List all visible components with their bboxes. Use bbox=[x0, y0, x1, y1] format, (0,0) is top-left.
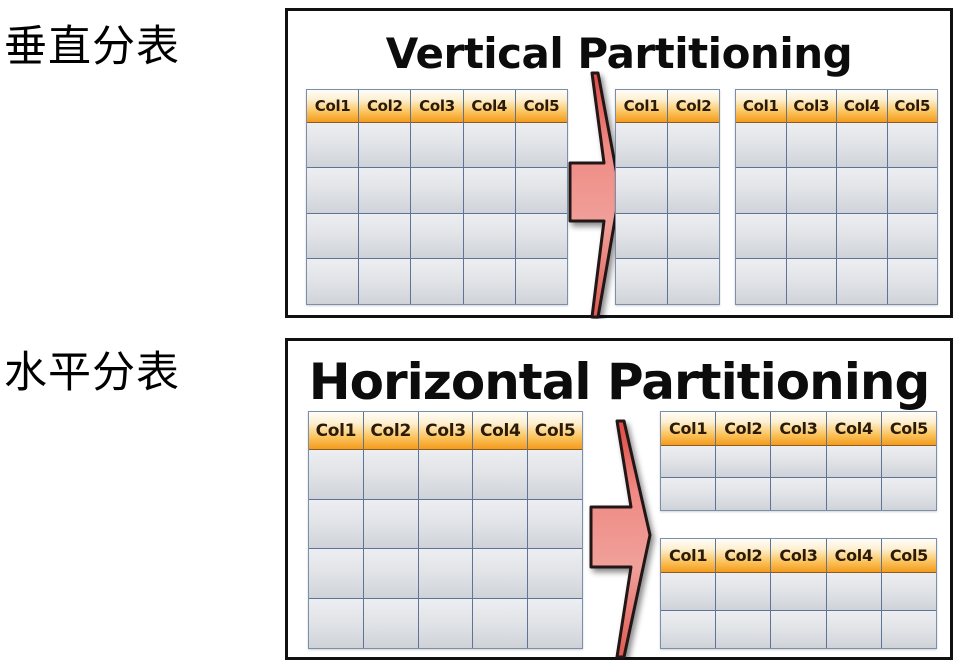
table-cell bbox=[668, 168, 719, 213]
column-header-col3: Col3 bbox=[787, 90, 838, 123]
table-row bbox=[307, 259, 567, 304]
table-row bbox=[616, 168, 719, 213]
vertical-partition-2-table: Col1Col3Col4Col5 bbox=[735, 89, 938, 305]
table-header-row: Col1Col2Col3Col4Col5 bbox=[307, 90, 567, 123]
horizontal-source-table: Col1Col2Col3Col4Col5 bbox=[308, 411, 583, 649]
table-cell bbox=[364, 450, 419, 500]
table-cell bbox=[827, 611, 882, 649]
column-header-col1: Col1 bbox=[309, 412, 364, 450]
table-row bbox=[661, 446, 936, 478]
table-cell bbox=[882, 611, 936, 649]
table-header-row: Col1Col2 bbox=[616, 90, 719, 123]
table-cell bbox=[364, 599, 419, 649]
table-row bbox=[736, 123, 937, 168]
table-cell bbox=[516, 168, 567, 213]
table-cell bbox=[473, 500, 528, 550]
table-cell bbox=[837, 259, 888, 304]
table-cell bbox=[787, 214, 838, 259]
table-cell bbox=[736, 168, 787, 213]
column-header-col4: Col4 bbox=[827, 539, 882, 573]
table-cell bbox=[464, 214, 516, 259]
column-header-col4: Col4 bbox=[837, 90, 888, 123]
table-row bbox=[661, 573, 936, 611]
table-cell bbox=[419, 599, 474, 649]
table-cell bbox=[716, 478, 771, 510]
table-cell bbox=[359, 214, 411, 259]
table-row bbox=[616, 214, 719, 259]
column-header-col3: Col3 bbox=[419, 412, 474, 450]
table-header-row: Col1Col2Col3Col4Col5 bbox=[309, 412, 582, 450]
column-header-col4: Col4 bbox=[827, 412, 882, 446]
table-row bbox=[307, 123, 567, 168]
table-row bbox=[309, 500, 582, 550]
table-cell bbox=[528, 549, 582, 599]
table-cell bbox=[307, 123, 359, 168]
column-header-col3: Col3 bbox=[771, 539, 826, 573]
table-cell bbox=[736, 123, 787, 168]
table-row bbox=[616, 123, 719, 168]
table-cell bbox=[516, 214, 567, 259]
table-cell bbox=[419, 549, 474, 599]
table-header-row: Col1Col2Col3Col4Col5 bbox=[661, 412, 936, 446]
table-cell bbox=[837, 123, 888, 168]
column-header-col5: Col5 bbox=[882, 412, 936, 446]
caption-horizontal-partitioning: 水平分表 bbox=[4, 352, 180, 395]
table-cell bbox=[661, 478, 716, 510]
table-cell bbox=[419, 450, 474, 500]
table-cell bbox=[661, 446, 716, 478]
table-cell bbox=[309, 549, 364, 599]
column-header-col2: Col2 bbox=[716, 539, 771, 573]
table-cell bbox=[473, 549, 528, 599]
table-cell bbox=[528, 450, 582, 500]
table-cell bbox=[787, 123, 838, 168]
table-cell bbox=[716, 573, 771, 611]
table-cell bbox=[359, 259, 411, 304]
table-row bbox=[661, 611, 936, 649]
table-cell bbox=[616, 123, 668, 168]
table-cell bbox=[837, 214, 888, 259]
column-header-col2: Col2 bbox=[716, 412, 771, 446]
table-cell bbox=[528, 500, 582, 550]
table-cell bbox=[882, 573, 936, 611]
table-cell bbox=[309, 599, 364, 649]
table-cell bbox=[771, 611, 826, 649]
table-cell bbox=[307, 168, 359, 213]
column-header-col1: Col1 bbox=[616, 90, 668, 123]
column-header-col4: Col4 bbox=[464, 90, 516, 123]
table-row bbox=[616, 259, 719, 304]
table-cell bbox=[827, 446, 882, 478]
table-cell bbox=[411, 259, 463, 304]
table-header-row: Col1Col2Col3Col4Col5 bbox=[661, 539, 936, 573]
table-cell bbox=[882, 478, 936, 510]
table-cell bbox=[464, 168, 516, 213]
table-cell bbox=[464, 259, 516, 304]
table-cell bbox=[364, 500, 419, 550]
table-cell bbox=[736, 259, 787, 304]
table-row bbox=[309, 599, 582, 649]
table-cell bbox=[307, 214, 359, 259]
column-header-col5: Col5 bbox=[516, 90, 567, 123]
table-cell bbox=[837, 168, 888, 213]
column-header-col2: Col2 bbox=[359, 90, 411, 123]
panel-title-vertical: Vertical Partitioning bbox=[288, 33, 950, 75]
table-cell bbox=[771, 446, 826, 478]
vertical-partition-1-table: Col1Col2 bbox=[615, 89, 720, 305]
table-cell bbox=[616, 214, 668, 259]
table-row bbox=[661, 478, 936, 510]
table-row bbox=[307, 168, 567, 213]
column-header-col1: Col1 bbox=[307, 90, 359, 123]
column-header-col4: Col4 bbox=[473, 412, 528, 450]
table-cell bbox=[473, 450, 528, 500]
table-cell bbox=[359, 123, 411, 168]
table-cell bbox=[888, 259, 938, 304]
column-header-col5: Col5 bbox=[882, 539, 936, 573]
table-cell bbox=[309, 450, 364, 500]
table-cell bbox=[516, 123, 567, 168]
table-cell bbox=[827, 478, 882, 510]
panel-vertical-partitioning: Vertical Partitioning Col1Col2Col3Col4Co… bbox=[285, 8, 953, 318]
table-cell bbox=[411, 123, 463, 168]
table-cell bbox=[464, 123, 516, 168]
table-cell bbox=[411, 168, 463, 213]
table-cell bbox=[661, 573, 716, 611]
table-cell bbox=[364, 549, 419, 599]
table-cell bbox=[888, 123, 938, 168]
table-row bbox=[736, 168, 937, 213]
column-header-col2: Col2 bbox=[668, 90, 719, 123]
table-cell bbox=[411, 214, 463, 259]
table-cell bbox=[528, 599, 582, 649]
table-cell bbox=[771, 478, 826, 510]
table-cell bbox=[736, 214, 787, 259]
table-cell bbox=[616, 259, 668, 304]
table-cell bbox=[419, 500, 474, 550]
column-header-col1: Col1 bbox=[661, 412, 716, 446]
table-row bbox=[309, 450, 582, 500]
table-cell bbox=[882, 446, 936, 478]
table-cell bbox=[787, 168, 838, 213]
right-arrow-icon bbox=[584, 419, 662, 659]
table-cell bbox=[359, 168, 411, 213]
caption-vertical-partitioning: 垂直分表 bbox=[4, 26, 180, 69]
table-cell bbox=[307, 259, 359, 304]
table-row bbox=[736, 214, 937, 259]
table-cell bbox=[309, 500, 364, 550]
panel-horizontal-partitioning: Horizontal Partitioning Col1Col2Col3Col4… bbox=[285, 338, 953, 660]
column-header-col5: Col5 bbox=[528, 412, 582, 450]
table-cell bbox=[661, 611, 716, 649]
table-cell bbox=[888, 168, 938, 213]
column-header-col3: Col3 bbox=[411, 90, 463, 123]
table-cell bbox=[616, 168, 668, 213]
table-cell bbox=[771, 573, 826, 611]
column-header-col3: Col3 bbox=[771, 412, 826, 446]
vertical-source-table: Col1Col2Col3Col4Col5 bbox=[306, 89, 568, 305]
table-row bbox=[309, 549, 582, 599]
column-header-col1: Col1 bbox=[736, 90, 787, 123]
table-cell bbox=[716, 611, 771, 649]
table-cell bbox=[787, 259, 838, 304]
horizontal-partition-1-table: Col1Col2Col3Col4Col5 bbox=[660, 411, 937, 511]
table-row bbox=[736, 259, 937, 304]
diagram-root: 垂直分表 水平分表 Vertical Partitioning Col1Col2… bbox=[0, 0, 967, 666]
table-row bbox=[307, 214, 567, 259]
table-cell bbox=[716, 446, 771, 478]
column-header-col5: Col5 bbox=[888, 90, 938, 123]
table-cell bbox=[827, 573, 882, 611]
column-header-col1: Col1 bbox=[661, 539, 716, 573]
table-cell bbox=[888, 214, 938, 259]
table-cell bbox=[668, 214, 719, 259]
table-header-row: Col1Col3Col4Col5 bbox=[736, 90, 937, 123]
table-cell bbox=[516, 259, 567, 304]
table-cell bbox=[668, 123, 719, 168]
column-header-col2: Col2 bbox=[364, 412, 419, 450]
table-cell bbox=[473, 599, 528, 649]
table-cell bbox=[668, 259, 719, 304]
panel-title-horizontal: Horizontal Partitioning bbox=[288, 357, 950, 407]
horizontal-partition-2-table: Col1Col2Col3Col4Col5 bbox=[660, 538, 937, 649]
